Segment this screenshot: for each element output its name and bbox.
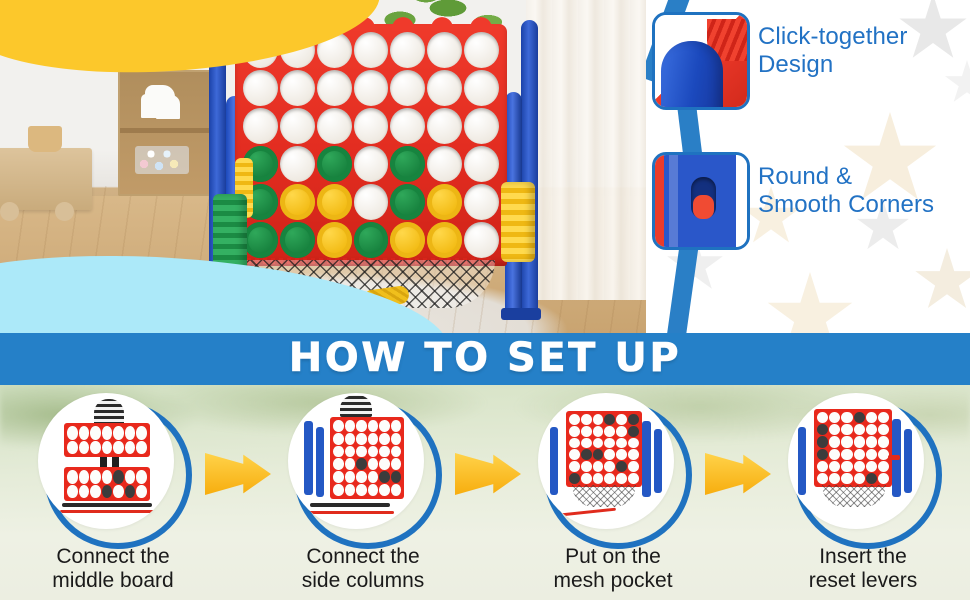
board-hole-r2-c4: [354, 70, 389, 106]
floor-parts: [310, 503, 390, 507]
mesh-pocket-part: [822, 485, 886, 507]
product-infographic-poster: Click-together Design Round & Smooth Cor…: [0, 0, 970, 600]
board-hole-r2-c7: [464, 70, 499, 106]
right-arrow-icon: [455, 453, 521, 495]
board-hole-r5-c7: [464, 184, 499, 220]
side-column-left-2: [316, 427, 324, 497]
board-hole-r3-c2: [280, 108, 315, 144]
coin-stack-yellow: [501, 182, 535, 262]
star-watermark-1: [898, 0, 968, 64]
ball-bin: [135, 146, 189, 174]
board-hole-r6-c1: [243, 222, 278, 258]
board-hole-r5-c6: [427, 184, 462, 220]
board-hole-grid: [243, 32, 499, 258]
step-photo-1: [38, 393, 174, 529]
step-caption-3: Put on the mesh pocket: [516, 545, 710, 593]
hole-grid: [817, 412, 889, 484]
board-hole-r3-c7: [464, 108, 499, 144]
person-silhouette: [94, 399, 124, 425]
step-arrow-3: [705, 453, 771, 495]
right-arrow-icon: [705, 453, 771, 495]
setup-step-4: Insert the reset levers: [788, 393, 938, 543]
toy-horse: [145, 85, 175, 115]
board-hole-r4-c3: [317, 146, 352, 182]
blue-post-right-outer: [521, 20, 538, 316]
star-watermark-8: [944, 60, 970, 106]
board-hole-r1-c4: [354, 32, 389, 68]
floor-parts: [62, 503, 152, 507]
star-watermark-5: [766, 272, 854, 333]
step-photo-2: [288, 393, 424, 529]
step-arrow-2: [455, 453, 521, 495]
reset-lever-part: [308, 511, 394, 514]
mesh-pocket-part: [572, 485, 636, 507]
star-watermark-6: [914, 248, 970, 314]
hole-grid: [569, 414, 639, 484]
side-column-right-2: [654, 429, 662, 493]
step-caption-4: Insert the reset levers: [766, 545, 960, 593]
board-hole-r6-c4: [354, 222, 389, 258]
board-hole-r4-c7: [464, 146, 499, 182]
side-column-left: [550, 427, 558, 495]
feature-label-click-together: Click-together Design: [758, 23, 907, 79]
board-hole-r5-c4: [354, 184, 389, 220]
feature-panel: Click-together Design Round & Smooth Cor…: [646, 0, 970, 333]
hole-grid: [333, 420, 401, 496]
board-hole-r2-c1: [243, 70, 278, 106]
board-hole-r3-c4: [354, 108, 389, 144]
step-caption-1: Connect the middle board: [16, 545, 210, 593]
board-hole-r1-c5: [390, 32, 425, 68]
person-silhouette: [340, 395, 372, 417]
board-hole-r5-c5: [390, 184, 425, 220]
reset-lever-part: [60, 510, 154, 513]
step-photo-4: [788, 393, 924, 529]
board-hole-r3-c6: [427, 108, 462, 144]
step-photo-3: [538, 393, 674, 529]
side-column-left: [798, 427, 806, 495]
feature-callout-round-smooth: [652, 152, 750, 250]
right-arrow-icon: [205, 453, 271, 495]
board-hole-r3-c3: [317, 108, 352, 144]
section-banner: HOW TO SET UP: [0, 333, 970, 385]
installed-reset-lever: [888, 455, 900, 460]
hero-room-photo: [0, 0, 646, 333]
blue-rounded-post-top: [661, 41, 723, 110]
hole-grid-bottom: [67, 470, 147, 498]
post-gloss-highlight: [669, 155, 678, 247]
board-hole-r2-c6: [427, 70, 462, 106]
board-hole-r6-c6: [427, 222, 462, 258]
page-title: HOW TO SET UP: [0, 332, 970, 384]
board-hole-r6-c2: [280, 222, 315, 258]
board-hole-r3-c1: [243, 108, 278, 144]
reset-lever-part: [552, 508, 616, 518]
side-column-right-2: [904, 429, 912, 493]
red-reset-lever: [693, 195, 714, 219]
side-column-left: [304, 421, 313, 495]
board-hole-r2-c2: [280, 70, 315, 106]
hole-grid-top: [67, 426, 147, 454]
feature-callout-click-together: [652, 12, 750, 110]
setup-step-3: Put on the mesh pocket: [538, 393, 688, 543]
board-hole-r1-c7: [464, 32, 499, 68]
side-column-right: [642, 421, 651, 497]
board-hole-r2-c5: [390, 70, 425, 106]
board-hole-r1-c6: [427, 32, 462, 68]
step-arrow-1: [205, 453, 271, 495]
red-grid-frame: [235, 24, 507, 266]
toy-basket: [28, 126, 62, 152]
board-hole-r4-c6: [427, 146, 462, 182]
feature-label-round-smooth: Round & Smooth Corners: [758, 163, 934, 219]
board-hole-r3-c5: [390, 108, 425, 144]
board-hole-r4-c4: [354, 146, 389, 182]
board-hole-r4-c2: [280, 146, 315, 182]
hero-section: Click-together Design Round & Smooth Cor…: [0, 0, 970, 333]
step-caption-2: Connect the side columns: [266, 545, 460, 593]
board-hole-r6-c7: [464, 222, 499, 258]
board-hole-r4-c5: [390, 146, 425, 182]
setup-steps-section: Connect the middle board Connect the sid…: [0, 385, 970, 600]
board-hole-r6-c5: [390, 222, 425, 258]
setup-step-2: Connect the side columns: [288, 393, 438, 543]
board-hole-r2-c3: [317, 70, 352, 106]
board-foot-right: [501, 308, 541, 320]
board-hole-r5-c3: [317, 184, 352, 220]
toy-cart: [0, 148, 92, 210]
setup-step-1: Connect the middle board: [38, 393, 188, 543]
board-hole-r6-c3: [317, 222, 352, 258]
board-hole-r5-c2: [280, 184, 315, 220]
